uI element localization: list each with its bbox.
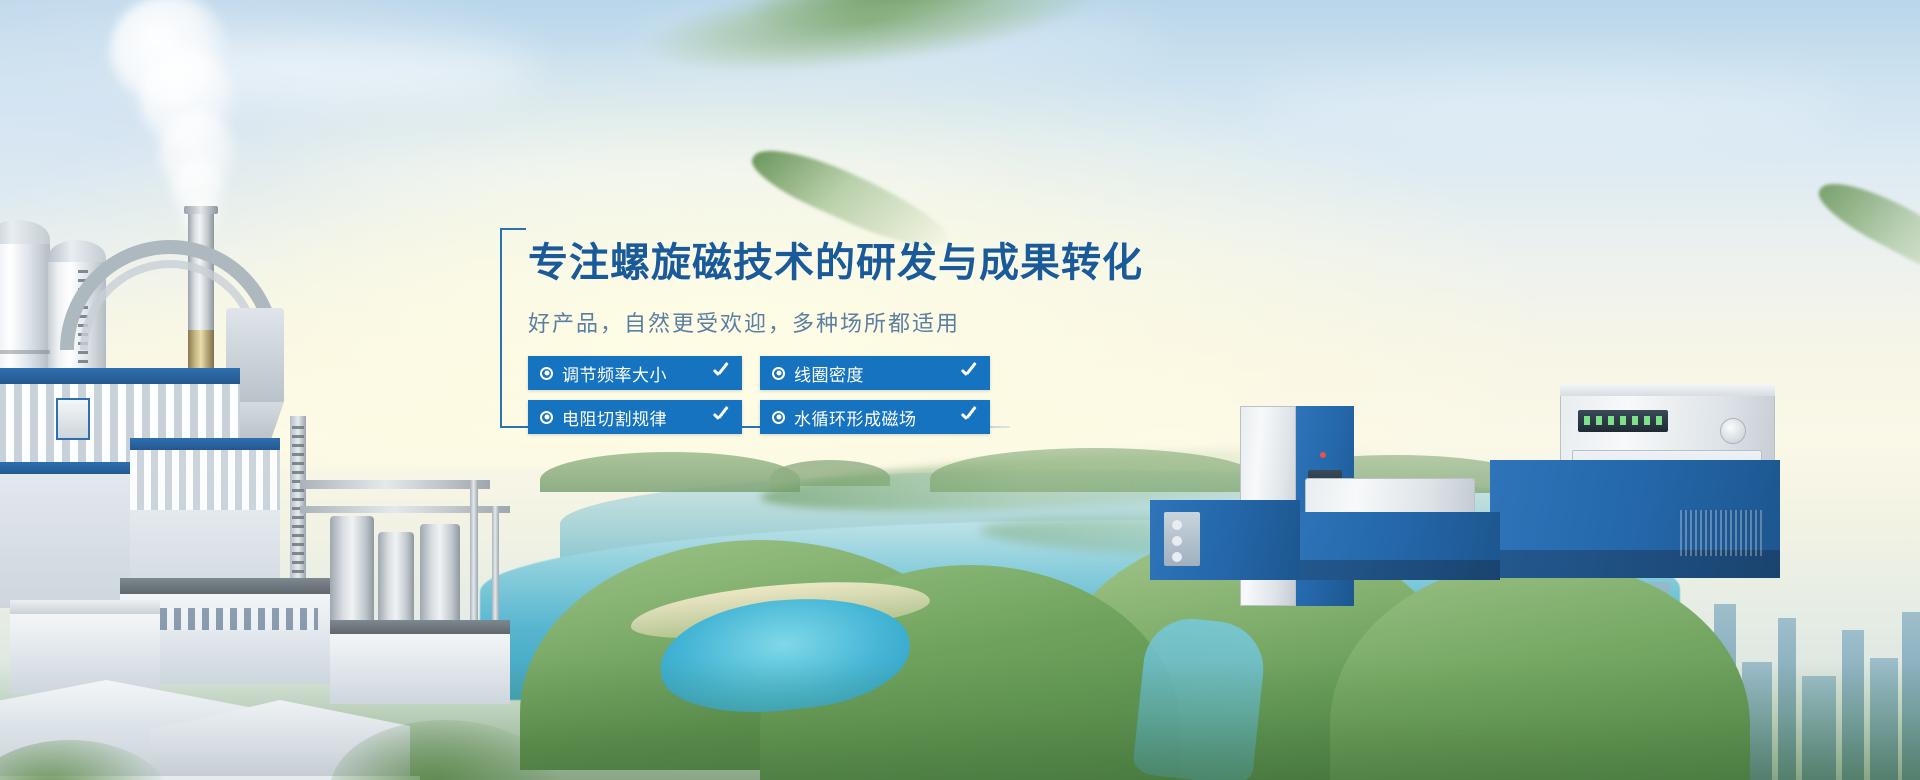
feature-badge-label: 水循环形成磁场 — [794, 405, 950, 430]
factory-shed — [10, 614, 160, 694]
machine-mid-unit-base — [1288, 560, 1500, 580]
check-icon — [960, 408, 978, 426]
feature-badge-resistance[interactable]: 电阻切割规律 — [528, 400, 742, 434]
feature-badge-label: 电阻切割规律 — [562, 405, 702, 430]
factory-shed-roof — [10, 600, 160, 614]
machine-knob — [1172, 552, 1182, 562]
factory-silo-cap — [48, 240, 106, 262]
feature-badge-frequency[interactable]: 调节频率大小 — [528, 356, 742, 390]
hero-banner: 专注螺旋磁技术的研发与成果转化 好产品，自然更受欢迎，多种场所都适用 调节频率大… — [0, 0, 1920, 780]
cloud-streak — [640, 18, 1160, 62]
factory-pipe-vertical — [492, 506, 499, 636]
factory-blue-band — [0, 368, 240, 384]
machine-knob — [1172, 536, 1182, 546]
feature-badge-label: 调节频率大小 — [562, 361, 702, 386]
machine-indicator-led — [1320, 452, 1326, 458]
factory-pipe — [300, 506, 510, 513]
radio-icon — [540, 367, 553, 380]
cloud-streak — [1250, 70, 1850, 140]
page-subtitle: 好产品，自然更受欢迎，多种场所都适用 — [528, 306, 960, 338]
factory-silo-ring — [0, 350, 50, 354]
factory-chimney-cap — [184, 206, 218, 214]
radio-icon — [772, 367, 785, 380]
machine-knob — [1172, 520, 1182, 530]
machine-vent-grill — [1680, 510, 1762, 556]
factory-window — [56, 398, 90, 440]
factory-pipe — [300, 480, 490, 489]
factory-shed-roof — [330, 620, 510, 634]
radio-icon — [772, 411, 785, 424]
factory-blue-band — [130, 438, 280, 450]
feature-badge-list: 调节频率大小 线圈密度 电阻切割规律 水循环形成磁场 — [528, 356, 990, 434]
factory-pipe-vertical — [470, 480, 478, 630]
machine-group-right — [1160, 400, 1900, 680]
check-icon — [712, 364, 730, 382]
feature-badge-water-circulation[interactable]: 水循环形成磁场 — [760, 400, 990, 434]
check-icon — [960, 364, 978, 382]
factory-shed-roof — [120, 578, 330, 594]
machine-oven-top — [1560, 384, 1775, 396]
radio-icon — [540, 411, 553, 424]
machine-dial — [1720, 418, 1746, 444]
factory-silo-cap — [0, 220, 50, 244]
feature-badge-coil-density[interactable]: 线圈密度 — [760, 356, 990, 390]
page-title: 专注螺旋磁技术的研发与成果转化 — [528, 240, 1143, 286]
machine-panel-leds — [1584, 416, 1662, 425]
factory-shed — [330, 634, 510, 704]
check-icon — [712, 408, 730, 426]
factory-building-stripes — [130, 450, 280, 510]
feature-badge-label: 线圈密度 — [794, 361, 950, 386]
machine-small-panel — [1164, 512, 1200, 566]
factory-tank — [330, 516, 374, 636]
